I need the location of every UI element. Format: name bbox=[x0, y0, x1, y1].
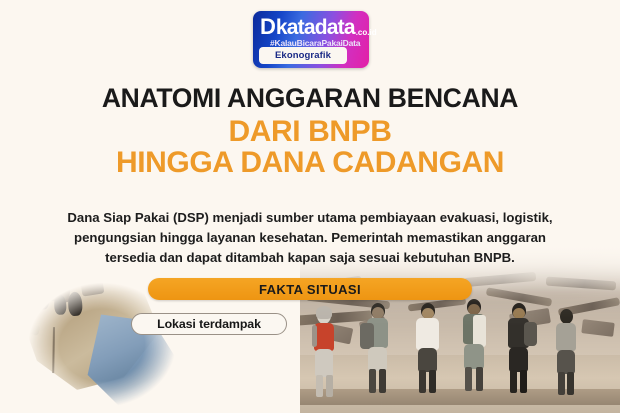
description-line-3: tersedia dan dapat ditambah kapan saja s… bbox=[24, 248, 596, 268]
rock bbox=[80, 277, 104, 296]
person-figure bbox=[412, 303, 444, 399]
infographic-canvas: D katadata .co.id #KalauBicaraPakaiData … bbox=[0, 0, 620, 413]
disaster-photo-right bbox=[300, 245, 620, 413]
lokasi-terdampak-label: Lokasi terdampak bbox=[157, 317, 261, 331]
ekonografik-badge-label: Ekonografik bbox=[275, 50, 331, 61]
photo-layer bbox=[0, 245, 620, 413]
fakta-situasi-button[interactable]: FAKTA SITUASI bbox=[148, 278, 472, 300]
lokasi-terdampak-button[interactable]: Lokasi terdampak bbox=[131, 313, 287, 335]
logo-tld: .co.id bbox=[356, 29, 377, 38]
logo-d-mark: D bbox=[260, 16, 275, 38]
ekonografik-badge: Ekonografik bbox=[259, 47, 347, 64]
headline-line-3: HINGGA DANA CADANGAN bbox=[0, 147, 620, 179]
person-figure bbox=[310, 307, 340, 399]
description-line-2: pengungsian hingga layanan kesehatan. Pe… bbox=[24, 228, 596, 248]
person-figure bbox=[504, 303, 538, 399]
description-line-1: Dana Siap Pakai (DSP) menjadi sumber uta… bbox=[24, 208, 596, 228]
person-figure bbox=[362, 303, 396, 399]
logo-word: katadata bbox=[276, 17, 355, 38]
person-figure bbox=[552, 307, 582, 399]
headline-line-2: DARI BNPB bbox=[0, 116, 620, 148]
fakta-situasi-label: FAKTA SITUASI bbox=[259, 282, 361, 297]
logo-wordmark: D katadata .co.id bbox=[260, 16, 377, 38]
headline-line-1: ANATOMI ANGGARAN BENCANA bbox=[0, 84, 620, 113]
person-figure bbox=[458, 299, 492, 399]
katadata-logo[interactable]: D katadata .co.id #KalauBicaraPakaiData … bbox=[253, 11, 369, 68]
page-title: ANATOMI ANGGARAN BENCANA DARI BNPB HINGG… bbox=[0, 84, 620, 179]
description-text: Dana Siap Pakai (DSP) menjadi sumber uta… bbox=[24, 208, 596, 268]
